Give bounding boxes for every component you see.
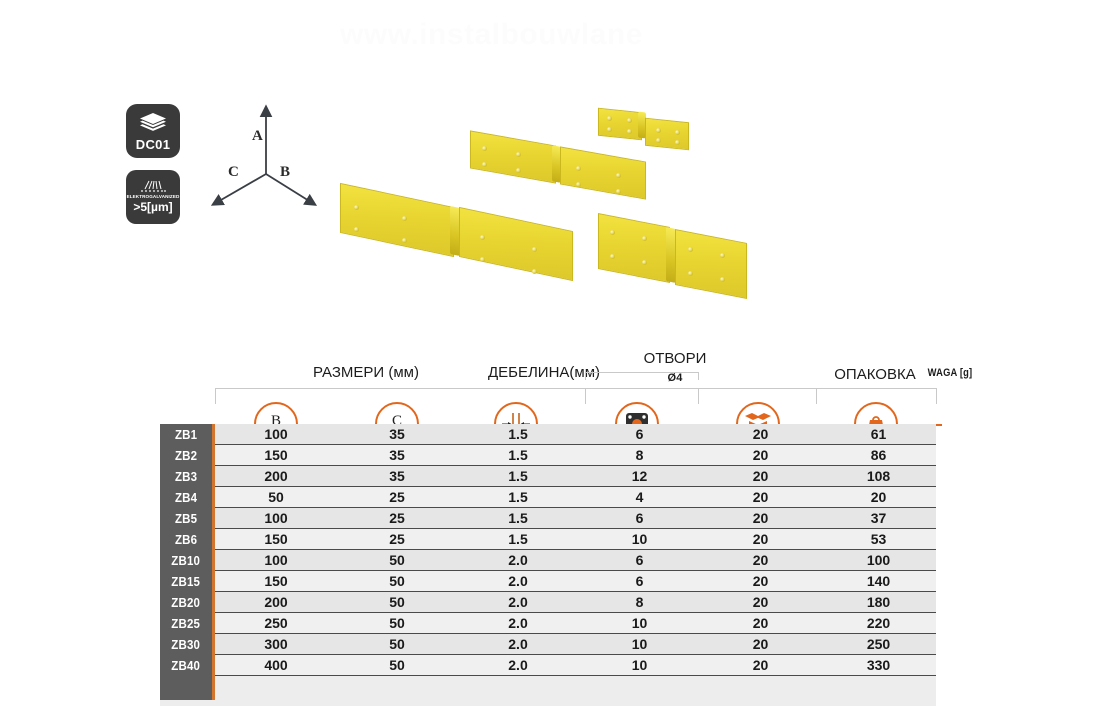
- cell-b: 50: [215, 489, 337, 505]
- cell-p: 20: [700, 468, 821, 484]
- cell-h: 10: [579, 657, 700, 673]
- cell-p: 20: [700, 426, 821, 442]
- cell-c: 25: [337, 510, 457, 526]
- cell-h: 8: [579, 594, 700, 610]
- axis-label-c: C: [228, 164, 239, 181]
- cell-c: 50: [337, 636, 457, 652]
- cell-t: 2.0: [457, 573, 579, 589]
- cell-p: 20: [700, 531, 821, 547]
- cell-p: 20: [700, 657, 821, 673]
- cell-c: 50: [337, 657, 457, 673]
- cell-c: 35: [337, 447, 457, 463]
- cell-w: 250: [821, 636, 936, 652]
- table-row: 100251.562037: [215, 508, 936, 529]
- cell-t: 1.5: [457, 426, 579, 442]
- table-row: 250502.01020220: [215, 613, 936, 634]
- row-code: ZB40: [160, 655, 212, 676]
- product-photo: [340, 100, 790, 330]
- cell-w: 20: [821, 489, 936, 505]
- row-code: ZB25: [160, 613, 212, 634]
- cell-h: 10: [579, 636, 700, 652]
- cell-t: 2.0: [457, 615, 579, 631]
- material-badge-label: DC01: [136, 138, 170, 151]
- cell-c: 50: [337, 552, 457, 568]
- table-row: 200502.0820180: [215, 592, 936, 613]
- table-row: 150502.0620140: [215, 571, 936, 592]
- cell-h: 6: [579, 510, 700, 526]
- table-row: 400502.01020330: [215, 655, 936, 676]
- row-code: ZB3: [160, 466, 212, 487]
- spec-table: РАЗМЕРИ (мм) ДЕБЕЛИНА(мм) ОТВОРИ Ø4 ОПАК…: [160, 350, 942, 706]
- cell-b: 300: [215, 636, 337, 652]
- cell-c: 50: [337, 594, 457, 610]
- code-list: ZB1ZB2ZB3ZB4ZB5ZB6ZB10ZB15ZB20ZB25ZB30ZB…: [160, 424, 212, 676]
- axis-label-b: B: [280, 164, 290, 181]
- abc-axis-diagram: A B C: [196, 96, 336, 216]
- watermark: www.instalbouwlane: [340, 18, 643, 52]
- cell-h: 6: [579, 573, 700, 589]
- cell-b: 100: [215, 510, 337, 526]
- row-code: ZB10: [160, 550, 212, 571]
- cell-c: 25: [337, 489, 457, 505]
- cell-b: 100: [215, 552, 337, 568]
- cell-t: 2.0: [457, 552, 579, 568]
- cell-h: 10: [579, 615, 700, 631]
- cell-t: 1.5: [457, 447, 579, 463]
- cell-p: 20: [700, 552, 821, 568]
- cell-w: 53: [821, 531, 936, 547]
- cell-c: 35: [337, 426, 457, 442]
- cell-b: 200: [215, 468, 337, 484]
- cell-b: 100: [215, 426, 337, 442]
- badge-group: DC01 ELEKTROGALVANIZED >5[: [126, 104, 180, 236]
- cell-w: 61: [821, 426, 936, 442]
- cell-c: 35: [337, 468, 457, 484]
- data-rows: 100351.562061150351.582086200351.5122010…: [215, 424, 936, 676]
- material-badge: DC01: [126, 104, 180, 158]
- cell-b: 200: [215, 594, 337, 610]
- cell-w: 140: [821, 573, 936, 589]
- row-code: ZB20: [160, 592, 212, 613]
- row-code: ZB1: [160, 424, 212, 445]
- cell-t: 2.0: [457, 657, 579, 673]
- cell-b: 250: [215, 615, 337, 631]
- cell-c: 50: [337, 573, 457, 589]
- coating-badge: ELEKTROGALVANIZED >5[µm]: [126, 170, 180, 224]
- cell-t: 1.5: [457, 510, 579, 526]
- cell-w: 100: [821, 552, 936, 568]
- cell-b: 400: [215, 657, 337, 673]
- row-code: ZB30: [160, 634, 212, 655]
- cell-p: 20: [700, 615, 821, 631]
- cell-t: 1.5: [457, 468, 579, 484]
- cell-c: 25: [337, 531, 457, 547]
- table-row: 100351.562061: [215, 424, 936, 445]
- cell-w: 330: [821, 657, 936, 673]
- cell-w: 37: [821, 510, 936, 526]
- cell-w: 180: [821, 594, 936, 610]
- table-row: 100502.0620100: [215, 550, 936, 571]
- cell-p: 20: [700, 447, 821, 463]
- axis-arrows-icon: [196, 96, 336, 216]
- cell-h: 4: [579, 489, 700, 505]
- axis-label-a: A: [252, 128, 263, 145]
- cell-w: 86: [821, 447, 936, 463]
- cell-t: 2.0: [457, 636, 579, 652]
- cell-t: 1.5: [457, 531, 579, 547]
- table-row: 150251.5102053: [215, 529, 936, 550]
- cell-t: 1.5: [457, 489, 579, 505]
- cell-p: 20: [700, 573, 821, 589]
- spray-icon: [138, 180, 168, 193]
- cell-h: 6: [579, 552, 700, 568]
- row-code: ZB4: [160, 487, 212, 508]
- cell-t: 2.0: [457, 594, 579, 610]
- cell-p: 20: [700, 489, 821, 505]
- coating-badge-label: >5[µm]: [133, 201, 172, 214]
- cell-w: 220: [821, 615, 936, 631]
- cell-h: 6: [579, 426, 700, 442]
- cell-c: 50: [337, 615, 457, 631]
- cell-h: 12: [579, 468, 700, 484]
- table-row: 150351.582086: [215, 445, 936, 466]
- holes-subbracket: [160, 364, 942, 378]
- cell-h: 8: [579, 447, 700, 463]
- table-body: ZB1ZB2ZB3ZB4ZB5ZB6ZB10ZB15ZB20ZB25ZB30ZB…: [160, 424, 936, 706]
- cell-b: 150: [215, 573, 337, 589]
- table-row: 200351.51220108: [215, 466, 936, 487]
- cell-p: 20: [700, 594, 821, 610]
- table-row: 300502.01020250: [215, 634, 936, 655]
- row-code: ZB6: [160, 529, 212, 550]
- cell-p: 20: [700, 510, 821, 526]
- cell-p: 20: [700, 636, 821, 652]
- row-code: ZB15: [160, 571, 212, 592]
- cell-h: 10: [579, 531, 700, 547]
- cell-b: 150: [215, 531, 337, 547]
- cell-w: 108: [821, 468, 936, 484]
- cell-b: 150: [215, 447, 337, 463]
- row-code: ZB2: [160, 445, 212, 466]
- row-code: ZB5: [160, 508, 212, 529]
- layers-icon: [139, 112, 167, 138]
- table-row: 50251.542020: [215, 487, 936, 508]
